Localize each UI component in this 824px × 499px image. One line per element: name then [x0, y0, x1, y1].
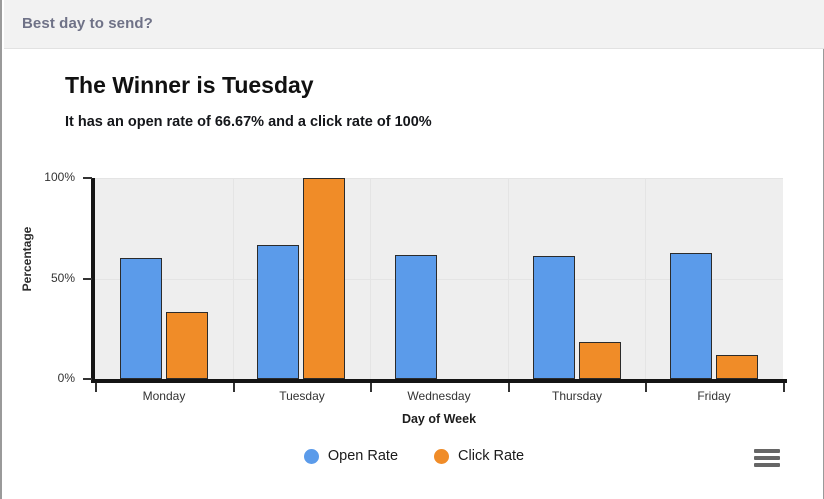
card-header-title: Best day to send? [22, 15, 153, 32]
chart-legend: Open RateClick Rate [2, 448, 824, 464]
bar-tuesday-open-rate[interactable] [257, 245, 299, 379]
y-tick-mark [83, 177, 92, 179]
hamburger-menu-icon[interactable] [754, 447, 780, 469]
gridline-y [95, 178, 783, 179]
card-header: Best day to send? [4, 0, 824, 49]
y-axis-title: Percentage [20, 214, 34, 304]
x-tick-label-friday: Friday [645, 389, 783, 403]
chart-card: Best day to send? The Winner is Tuesday … [0, 0, 824, 499]
bar-thursday-click-rate[interactable] [579, 342, 621, 379]
x-tick-label-tuesday: Tuesday [233, 389, 371, 403]
menu-bar-middle [754, 456, 780, 460]
legend-swatch-icon [434, 449, 449, 464]
menu-bar-bottom [754, 463, 780, 467]
y-tick-label: 100% [44, 170, 75, 184]
y-tick-mark [83, 278, 92, 280]
x-axis-line [91, 379, 787, 383]
chart-title: The Winner is Tuesday [65, 72, 314, 99]
bar-friday-click-rate[interactable] [716, 355, 758, 379]
legend-label: Open Rate [328, 448, 398, 464]
legend-swatch-icon [304, 449, 319, 464]
bar-friday-open-rate[interactable] [670, 253, 712, 379]
chart-subtitle: It has an open rate of 66.67% and a clic… [65, 114, 432, 130]
gridline-x [233, 178, 234, 379]
bar-monday-click-rate[interactable] [166, 312, 208, 379]
x-tick-label-monday: Monday [95, 389, 233, 403]
legend-label: Click Rate [458, 448, 524, 464]
x-tick-label-wednesday: Wednesday [370, 389, 508, 403]
bar-tuesday-click-rate[interactable] [303, 178, 345, 379]
y-tick-mark [83, 378, 92, 380]
gridline-x [508, 178, 509, 379]
gridline-x [370, 178, 371, 379]
bar-thursday-open-rate[interactable] [533, 256, 575, 379]
bar-wednesday-open-rate[interactable] [395, 255, 437, 379]
x-tick-mark [783, 383, 785, 392]
gridline-x [645, 178, 646, 379]
y-tick-label: 0% [58, 371, 75, 385]
x-axis-title: Day of Week [95, 412, 783, 426]
bar-monday-open-rate[interactable] [120, 258, 162, 379]
y-tick-label: 50% [51, 271, 75, 285]
menu-bar-top [754, 449, 780, 453]
x-tick-label-thursday: Thursday [508, 389, 646, 403]
legend-item-open-rate[interactable]: Open Rate [304, 448, 398, 464]
legend-item-click-rate[interactable]: Click Rate [434, 448, 524, 464]
